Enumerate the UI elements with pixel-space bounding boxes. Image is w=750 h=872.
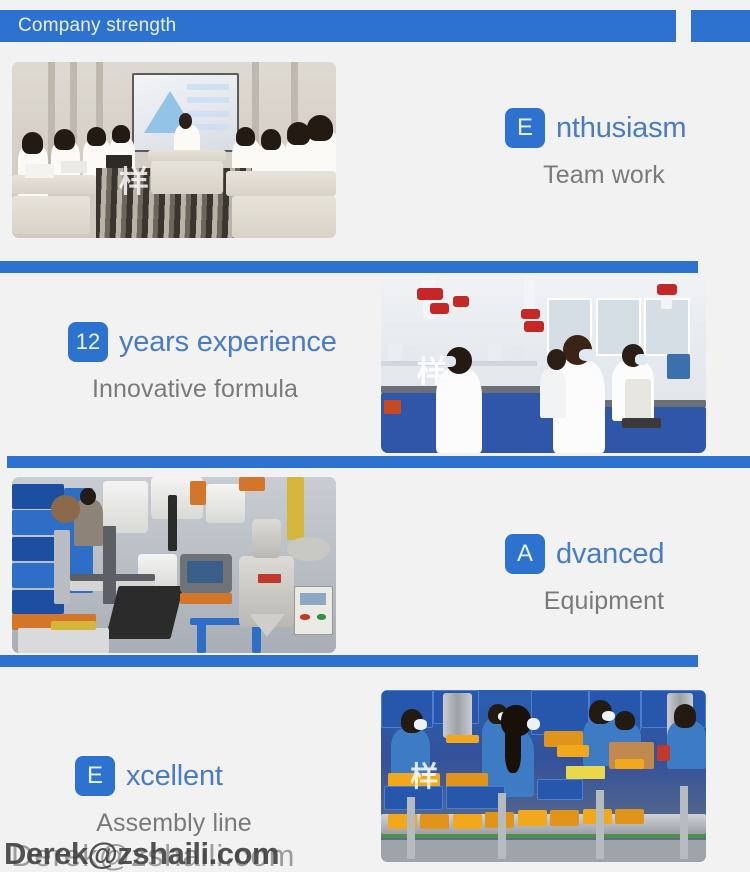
experience-subtitle: Innovative formula (70, 375, 320, 404)
assembly-line-scene: 样 (381, 690, 706, 862)
watermark-light: Derek@zshaili.com (11, 838, 295, 872)
meeting-room-scene: 样 (12, 62, 336, 238)
excellent-title-row: E xcellent (75, 756, 269, 796)
photo-watermark: 样 (417, 347, 447, 391)
header-accent-block (691, 10, 750, 42)
section-enthusiasm-text: E nthusiasm Team work (505, 108, 699, 190)
badge-letter-a: A (505, 534, 545, 574)
photo-assembly-line: 样 (381, 690, 706, 862)
badge-letter-e: E (505, 108, 545, 148)
badge-letter-e2: E (75, 756, 115, 796)
excellent-subtitle: Assembly line (79, 809, 269, 838)
advanced-subtitle: Equipment (509, 587, 699, 616)
divider-bar-2 (7, 456, 750, 468)
photo-laboratory: 样 (381, 277, 706, 453)
photo-equipment (12, 477, 336, 653)
excellent-title: xcellent (126, 760, 223, 793)
divider-bar-1 (0, 261, 698, 273)
enthusiasm-title-row: E nthusiasm (505, 108, 699, 148)
enthusiasm-title: nthusiasm (556, 112, 686, 145)
header-bar: Company strength (0, 10, 676, 42)
company-strength-page: Company strength (0, 0, 750, 872)
advanced-title-row: A dvanced (505, 534, 699, 574)
experience-title: years experience (119, 326, 337, 359)
section-advanced-text: A dvanced Equipment (505, 534, 699, 616)
watermark-bold: Derek@zshaili.com (4, 836, 279, 872)
badge-number-12: 12 (68, 322, 108, 362)
advanced-title: dvanced (556, 538, 664, 571)
laboratory-scene: 样 (381, 277, 706, 453)
section-experience-text: 12 years experience Innovative formula (68, 322, 337, 404)
photo-watermark: 样 (410, 755, 438, 795)
divider-bar-3 (0, 655, 698, 667)
page-title: Company strength (18, 15, 176, 37)
photo-watermark: 样 (119, 157, 149, 201)
photo-meeting-room: 样 (12, 62, 336, 238)
experience-title-row: 12 years experience (68, 322, 337, 362)
equipment-scene (12, 477, 336, 653)
section-excellent-text: E xcellent Assembly line (75, 756, 269, 838)
enthusiasm-subtitle: Team work (509, 161, 699, 190)
